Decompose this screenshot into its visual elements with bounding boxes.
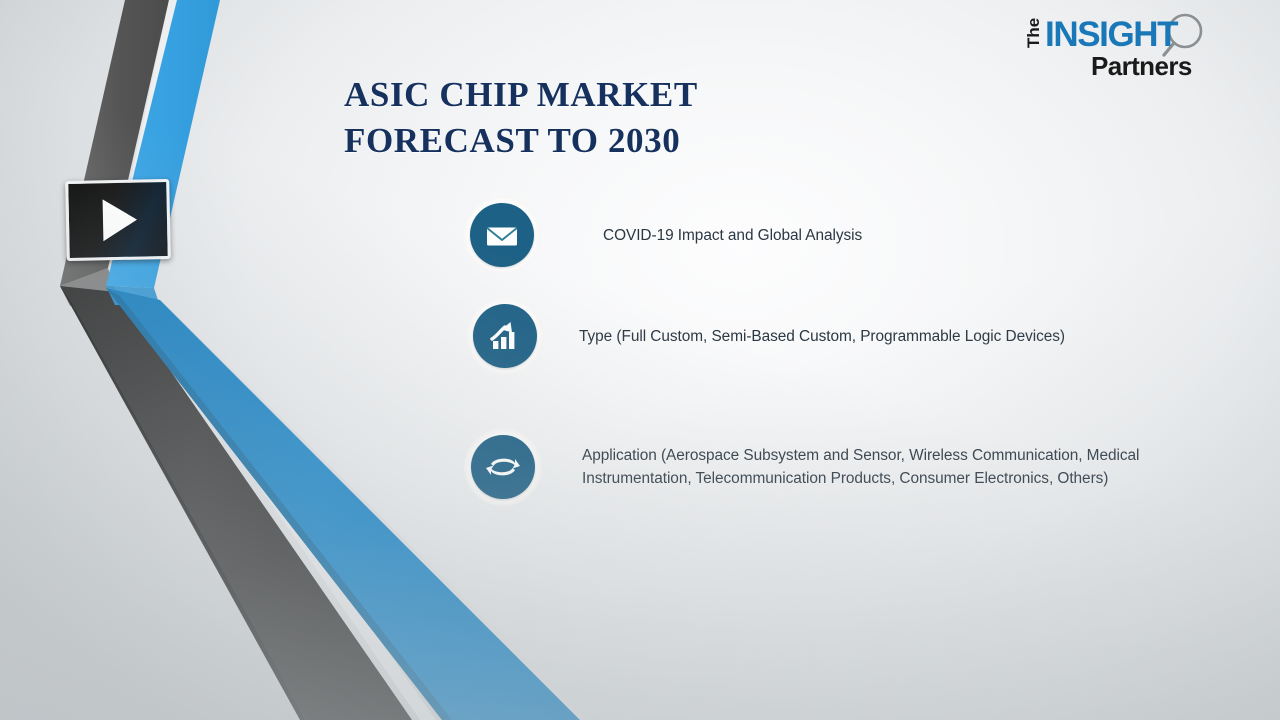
insight-partners-logo: The INSIGHT Partners <box>1007 8 1222 84</box>
logo-the: The <box>1024 18 1043 48</box>
growth-chart-icon <box>473 304 537 368</box>
bullet-icon-halo-2 <box>466 297 544 375</box>
video-play-button[interactable] <box>65 179 171 261</box>
bullet-item-type: Type (Full Custom, Semi-Based Custom, Pr… <box>466 297 1159 375</box>
logo-graphic: The INSIGHT Partners <box>1007 8 1222 84</box>
growth-chart-glyph <box>485 316 525 356</box>
envelope-icon <box>470 203 534 267</box>
slide-canvas: ASIC CHIP MARKET FORECAST TO 2030 The IN… <box>0 0 1280 720</box>
envelope-glyph <box>482 215 522 255</box>
logo-partners: Partners <box>1091 51 1192 81</box>
bullet-text-1: COVID-19 Impact and Global Analysis <box>603 224 1023 247</box>
title-line-1: ASIC CHIP MARKET <box>344 72 984 118</box>
cycle-arrows-icon <box>471 435 535 499</box>
bullet-icon-halo-3 <box>464 428 542 506</box>
bullet-item-application: Application (Aerospace Subsystem and Sen… <box>464 428 1222 506</box>
bullet-icon-halo-1 <box>463 196 541 274</box>
logo-insight: INSIGHT <box>1045 15 1178 54</box>
bullet-item-covid: COVID-19 Impact and Global Analysis <box>463 196 1023 274</box>
slide-title: ASIC CHIP MARKET FORECAST TO 2030 <box>344 72 984 164</box>
bullet-text-3: Application (Aerospace Subsystem and Sen… <box>582 444 1222 490</box>
cycle-arrows-glyph <box>483 447 523 487</box>
title-line-2: FORECAST TO 2030 <box>344 118 984 164</box>
bullet-text-2: Type (Full Custom, Semi-Based Custom, Pr… <box>579 325 1159 348</box>
play-triangle-icon <box>103 199 138 242</box>
